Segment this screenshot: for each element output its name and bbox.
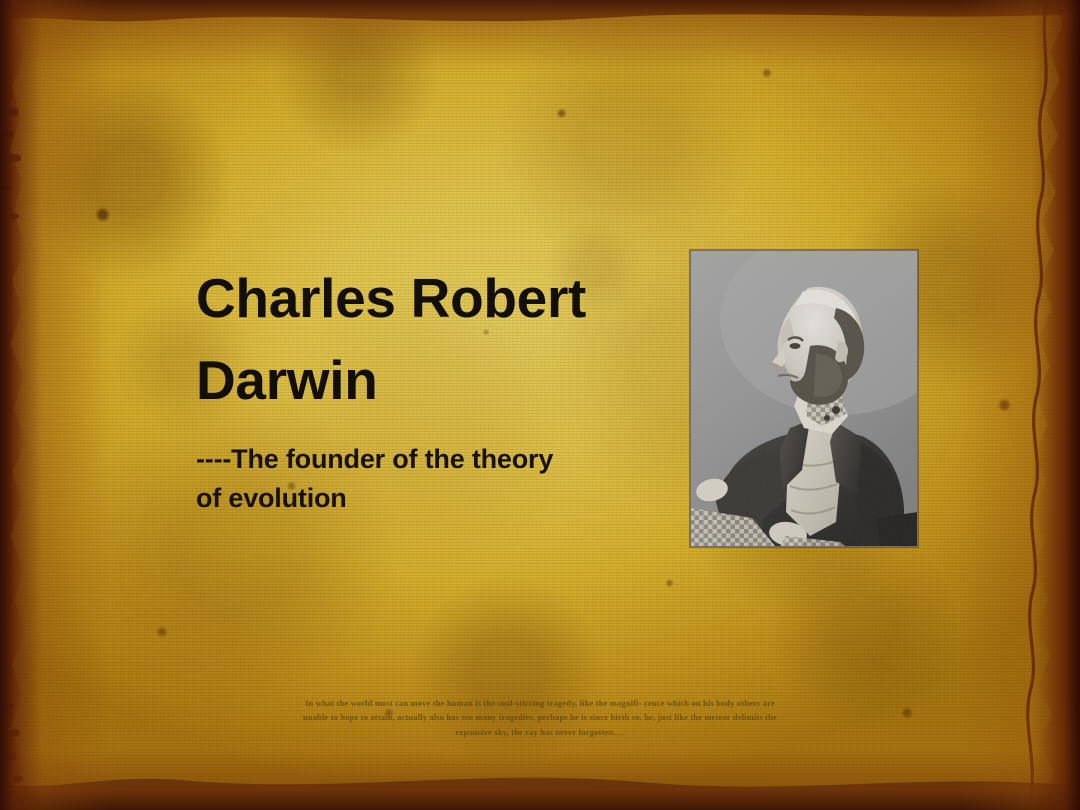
footer-signature: ...... <box>613 731 624 737</box>
footer-caption: In what the world most can move the huma… <box>300 697 780 740</box>
title-line-2: Darwin <box>196 349 378 411</box>
footer-line-1: In what the world most can move the huma… <box>305 699 642 708</box>
title-line-1: Charles Robert <box>196 267 586 329</box>
page-subtitle: ----The founder of the theory of evoluti… <box>196 440 646 519</box>
presentation-slide: Charles Robert Darwin ----The founder of… <box>0 0 1080 810</box>
footer-line-4: the ray has never forgotten <box>511 728 613 737</box>
subtitle-line-2: of evolution <box>196 483 347 513</box>
darwin-portrait-photo <box>690 250 918 547</box>
subtitle-line-1: ----The founder of the theory <box>196 444 553 474</box>
page-title: Charles Robert Darwin <box>196 258 666 422</box>
portrait-illustration <box>690 250 918 547</box>
